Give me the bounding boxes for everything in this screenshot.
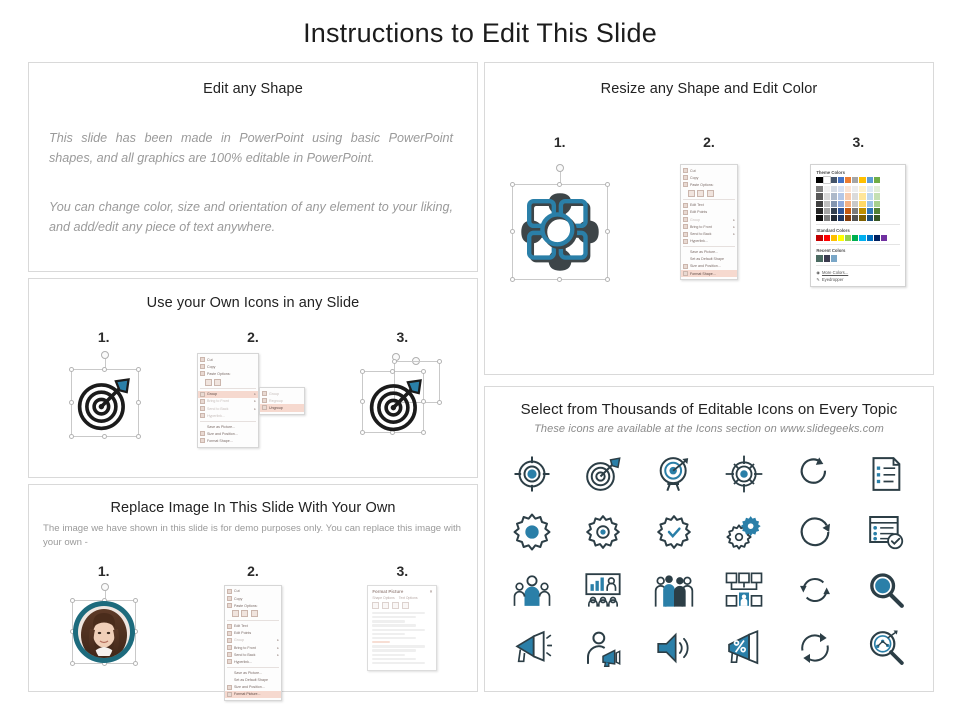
group-icon [262,391,267,396]
send-back-icon [200,406,205,411]
edit-points-icon [683,210,688,215]
step-number-2: 2. [178,329,327,345]
chevron-right-icon: ▸ [733,225,735,229]
copy-icon [200,364,205,369]
chevron-right-icon: ▸ [254,407,256,411]
send-back-icon [227,652,232,657]
gear-check-icon[interactable] [654,512,694,552]
send-back-icon [683,232,688,237]
page-title: Instructions to Edit This Slide [0,18,960,49]
ctx-bring-to-front[interactable]: Bring to Front ▸ [198,398,258,405]
icon-cell[interactable] [780,503,851,561]
resize-shape-step-3: Theme Colors Standard Colors [784,164,933,287]
size-position-icon [200,431,205,436]
eyedropper-icon: ✎ [816,277,820,282]
checklist-document-icon[interactable] [866,454,906,494]
ctx-size-and-position[interactable]: Size and Position... [225,684,281,691]
recent-colors-row[interactable] [816,255,900,261]
format-pane-header: Format Picture × [372,589,432,594]
submenu-regroup[interactable]: Regroup [260,397,304,404]
ctx-paste-options[interactable]: Paste Options: [681,181,737,188]
cut-icon [683,168,688,173]
portrait-photo-selected[interactable] [61,583,147,675]
gears-pair-icon[interactable] [724,512,764,552]
people-group-icon[interactable] [654,570,694,610]
format-pane-icon-row[interactable] [372,602,432,609]
slide-canvas: Instructions to Edit This Slide Edit any… [0,0,960,720]
ctx-copy[interactable]: Copy [681,174,737,181]
ctx-cut[interactable]: Cut [198,356,258,363]
ctx-format-picture[interactable]: Format Picture... [225,691,281,698]
paste-icon [683,182,688,187]
paste-option-buttons[interactable] [198,378,258,388]
paste-icon [200,371,205,376]
cycle-arrows-icon[interactable] [795,628,835,668]
bring-front-icon [683,224,688,229]
gear-solid-icon[interactable] [512,512,552,552]
effects-icon[interactable] [382,602,389,609]
group-icon [200,392,205,397]
panel-title-replace-image: Replace Image In This Slide With Your Ow… [29,500,477,516]
regroup-icon [262,398,267,403]
format-shape-icon [200,438,205,443]
format-shape-icon [683,271,688,276]
ctx-save-as-picture[interactable]: Save as Picture... [225,669,281,676]
edit-text-icon [683,203,688,208]
replace-image-step-1 [29,583,178,675]
icon-cell[interactable] [568,445,639,503]
own-icons-step-2: Cut Copy Paste Options: Group ▸ [178,351,327,449]
step-number-3: 3. [328,329,477,345]
icon-cell[interactable] [497,503,568,561]
own-icons-step-1 [29,351,178,443]
theme-colors-base-row[interactable] [816,177,900,183]
group-submenu[interactable]: Group Regroup Ungroup [259,387,305,415]
ctx-save-as-picture[interactable]: Save as Picture... [681,248,737,255]
ctx-hyperlink[interactable]: Hyperlink... [225,658,281,665]
chevron-right-icon: ▸ [254,392,256,396]
icon-cell[interactable] [638,445,709,503]
icon-cell[interactable] [568,503,639,561]
replace-image-step-2: Cut Copy Paste Options: Edit Text [178,583,327,701]
icon-cell[interactable] [850,561,921,619]
close-icon[interactable]: × [430,589,433,594]
ctx-hyperlink[interactable]: Hyperlink... [681,238,737,245]
sync-arrows-icon[interactable] [795,570,835,610]
presentation-audience-icon[interactable] [583,570,623,610]
chevron-right-icon: ▸ [733,232,735,236]
format-picture-icon [227,692,232,697]
magnifier-icon[interactable] [866,570,906,610]
resize-shape-step-2: Cut Copy Paste Options: Edit Text [634,164,783,280]
ctx-bring-to-front[interactable]: Bring to Front ▸ [681,223,737,230]
icon-library-subtitle: These icons are available at the Icons s… [485,423,933,435]
bring-front-icon [200,399,205,404]
color-picker-popup[interactable]: Theme Colors Standard Colors [810,164,906,287]
context-menu-format-picture[interactable]: Cut Copy Paste Options: Edit Text [224,585,282,701]
standard-colors-row[interactable] [816,235,900,241]
icon-cell[interactable] [568,619,639,677]
ctx-hyperlink[interactable]: Hyperlink... [198,412,258,419]
chevron-right-icon: ▸ [733,218,735,222]
icon-cell[interactable] [780,445,851,503]
group-icon [227,638,232,643]
step-number-1: 1. [29,329,178,345]
chevron-right-icon: ▸ [277,646,279,650]
icon-cell[interactable] [709,503,780,561]
checklist-approved-icon[interactable] [866,512,906,552]
icon-cell[interactable] [709,561,780,619]
size-position-icon [683,264,688,269]
panel-resize-shape: Resize any Shape and Edit Color 1. 2. 3. [484,62,934,375]
ctx-send-to-back[interactable]: Send to Back ▸ [198,405,258,412]
ctx-save-as-picture[interactable]: Save as Picture... [198,423,258,430]
panel-use-own-icons: Use your Own Icons in any Slide 1. 2. 3. [28,278,478,478]
resize-shape-step-1 [485,164,634,292]
submenu-group[interactable]: Group [260,390,304,397]
format-pane-tabs[interactable]: Shape Options Text Options [372,596,432,600]
replace-image-note: The image we have shown in this slide is… [43,522,461,551]
step-number-3: 3. [328,563,477,579]
ctx-bring-to-front[interactable]: Bring to Front ▸ [225,644,281,651]
icon-cell[interactable] [850,445,921,503]
crosshair-target-icon[interactable] [512,454,552,494]
quadrant-shape-selected[interactable] [504,164,616,292]
team-leader-icon[interactable] [512,570,552,610]
ctx-edit-text[interactable]: Edit Text [681,202,737,209]
bring-front-icon [227,645,232,650]
panel-replace-image: Replace Image In This Slide With Your Ow… [28,484,478,692]
ctx-format-shape[interactable]: Format Shape... [681,270,737,277]
step-number-1: 1. [485,134,634,150]
ctx-set-default-shape[interactable]: Set as Default Shape [681,256,737,263]
hyperlink-icon [683,239,688,244]
panel-title-resize-shape: Resize any Shape and Edit Color [485,81,933,97]
cut-icon [227,589,232,594]
ctx-paste-options[interactable]: Paste Options: [198,370,258,377]
size-icon[interactable] [392,602,399,609]
person-megaphone-icon[interactable] [583,628,623,668]
icon-cell[interactable] [850,503,921,561]
icon-grid [485,445,933,677]
ungroup-icon [262,405,267,410]
ctx-edit-points[interactable]: Edit Points [225,630,281,637]
chevron-right-icon: ▸ [254,399,256,403]
ctx-format-shape[interactable]: Format Shape... [198,437,258,444]
ctx-copy[interactable]: Copy [198,363,258,370]
speaker-sound-icon[interactable] [654,628,694,668]
icon-cell[interactable] [638,561,709,619]
hyperlink-icon [227,659,232,664]
magnifier-analytics-icon[interactable] [866,628,906,668]
own-icons-step-3 [328,351,477,443]
cut-icon [200,357,205,362]
replace-image-step-numbers: 1. 2. 3. [29,563,477,579]
ctx-cut[interactable]: Cut [681,167,737,174]
panel-icon-library: Select from Thousands of Editable Icons … [484,386,934,692]
ctx-send-to-back[interactable]: Send to Back ▸ [681,230,737,237]
resize-shape-step-numbers: 1. 2. 3. [485,134,933,150]
step-number-2: 2. [634,134,783,150]
ctx-copy[interactable]: Copy [225,595,281,602]
ctx-edit-points[interactable]: Edit Points [681,209,737,216]
size-position-icon [227,685,232,690]
ctx-edit-text[interactable]: Edit Text [225,622,281,629]
group-icon [683,217,688,222]
paste-icon [227,603,232,608]
icon-cell[interactable] [709,445,780,503]
palette-icon: ◉ [816,270,820,275]
theme-colors-label: Theme Colors [816,170,900,175]
step-number-2: 2. [178,563,327,579]
icon-cell[interactable] [780,619,851,677]
format-picture-pane[interactable]: Format Picture × Shape Options Text Opti… [367,585,437,671]
edit-points-icon [227,631,232,636]
replace-image-step-3: Format Picture × Shape Options Text Opti… [328,583,477,671]
edit-shape-paragraph-2: You can change color, size and orientati… [49,198,453,237]
rotate-clockwise-icon[interactable] [795,454,835,494]
step-number-3: 3. [784,134,933,150]
copy-icon [683,175,688,180]
step-number-1: 1. [29,563,178,579]
own-icons-step-numbers: 1. 2. 3. [29,329,477,345]
ctx-set-default-shape[interactable]: Set as Default Shape [225,676,281,683]
ctx-group[interactable]: Group ▸ [225,637,281,644]
org-chart-icon[interactable] [724,570,764,610]
hyperlink-icon [200,413,205,418]
icon-cell[interactable] [638,503,709,561]
paste-option-buttons[interactable] [681,189,737,199]
panel-title-icon-library: Select from Thousands of Editable Icons … [485,401,933,418]
paste-option-buttons[interactable] [225,609,281,619]
chevron-right-icon: ▸ [277,653,279,657]
target-icon-ungrouped[interactable] [356,351,448,443]
panel-edit-any-shape: Edit any Shape This slide has been made … [28,62,478,272]
ctx-cut[interactable]: Cut [225,588,281,595]
scope-target-icon[interactable] [724,454,764,494]
submenu-ungroup[interactable]: Ungroup [260,404,304,411]
icon-cell[interactable] [638,619,709,677]
ctx-size-and-position[interactable]: Size and Position... [681,263,737,270]
chevron-right-icon: ▸ [277,638,279,642]
icon-cell[interactable] [709,619,780,677]
panel-title-edit-shape: Edit any Shape [29,81,477,97]
context-menu-format-shape[interactable]: Cut Copy Paste Options: Edit Text [680,164,738,280]
eyedropper-button[interactable]: ✎ Eyedropper [816,275,900,282]
ctx-group[interactable]: Group ▸ [681,216,737,223]
megaphone-discount-icon[interactable] [724,628,764,668]
icon-cell[interactable] [780,561,851,619]
ctx-paste-options[interactable]: Paste Options: [225,602,281,609]
gear-outline-icon[interactable] [583,512,623,552]
ctx-size-and-position[interactable]: Size and Position... [198,430,258,437]
fill-icon[interactable] [372,602,379,609]
ctx-group[interactable]: Group ▸ [198,391,258,398]
dartboard-arrow-icon[interactable] [583,454,623,494]
icon-cell[interactable] [497,445,568,503]
recent-colors-label: Recent Colors [816,248,900,253]
icon-cell[interactable] [497,619,568,677]
target-icon-selected[interactable] [61,351,147,443]
standard-colors-label: Standard Colors [816,228,900,233]
icon-cell[interactable] [497,561,568,619]
icon-cell[interactable] [850,619,921,677]
picture-icon[interactable] [402,602,409,609]
edit-text-icon [227,624,232,629]
icon-cell[interactable] [568,561,639,619]
context-menu-group[interactable]: Cut Copy Paste Options: Group ▸ [197,353,259,448]
edit-shape-paragraph-1: This slide has been made in PowerPoint u… [49,129,453,168]
avatar [73,601,135,663]
refresh-circle-icon[interactable] [795,512,835,552]
panel-title-own-icons: Use your Own Icons in any Slide [29,295,477,311]
megaphone-icon[interactable] [512,628,552,668]
copy-icon [227,596,232,601]
ctx-send-to-back[interactable]: Send to Back ▸ [225,651,281,658]
target-stand-icon[interactable] [654,454,694,494]
